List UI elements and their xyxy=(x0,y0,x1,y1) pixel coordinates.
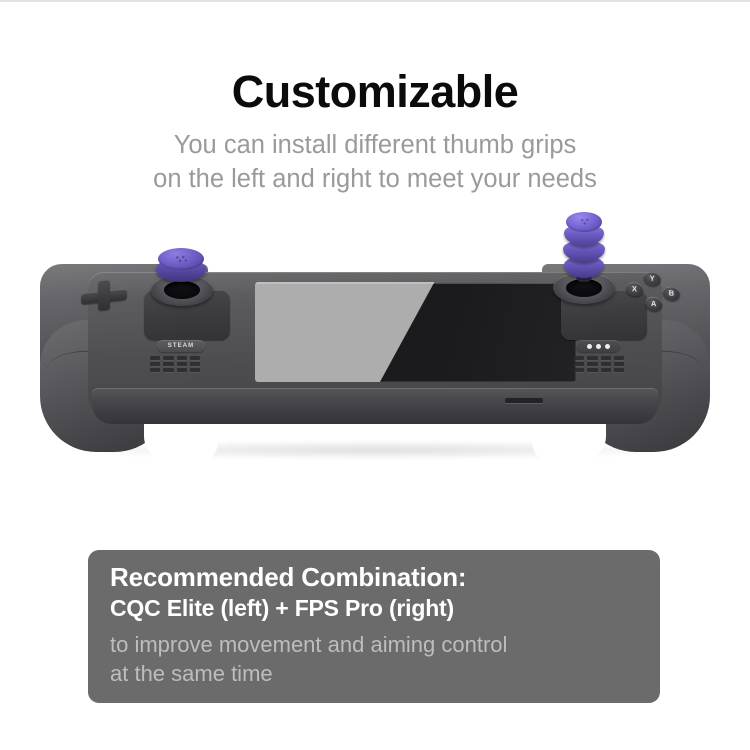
callout-title: Recommended Combination: xyxy=(110,562,660,593)
button-a-label: A xyxy=(651,300,657,308)
button-a[interactable]: A xyxy=(645,296,662,312)
recommendation-callout: Recommended Combination: CQC Elite (left… xyxy=(88,550,660,703)
subtitle-line-1: You can install different thumb grips xyxy=(0,129,750,163)
button-b[interactable]: B xyxy=(663,286,680,302)
subtitle-line-2: on the left and right to meet your needs xyxy=(0,163,750,197)
dpad-vertical-arm xyxy=(98,279,110,310)
steam-button[interactable]: STEAM xyxy=(157,340,205,352)
console-bottom-edge xyxy=(92,388,658,424)
callout-note-line-2: at the same time xyxy=(110,660,660,689)
product-infographic-page: Customizable You can install different t… xyxy=(0,0,750,750)
screen-top-highlight xyxy=(255,282,576,284)
top-divider xyxy=(0,0,750,2)
page-title: Customizable xyxy=(0,68,750,115)
header-block: Customizable You can install different t… xyxy=(0,68,750,197)
callout-note: to improve movement and aiming control a… xyxy=(110,631,660,688)
screen-surface-sheen xyxy=(255,282,576,382)
quick-access-menu-button[interactable] xyxy=(576,340,620,352)
dpad[interactable] xyxy=(81,276,127,315)
steam-button-label: STEAM xyxy=(168,343,195,349)
left-speaker-grille xyxy=(150,356,200,372)
button-b-label: B xyxy=(669,290,675,298)
face-button-cluster[interactable]: Y X B A xyxy=(622,269,685,319)
left-thumb-grip-cqc-elite[interactable] xyxy=(156,248,206,284)
right-thumb-grip-fps-pro[interactable] xyxy=(559,212,609,284)
microsd-card-slot xyxy=(505,398,543,403)
cqc-elite-grip-texture xyxy=(172,254,190,264)
button-y[interactable]: Y xyxy=(644,271,661,287)
fps-pro-grip-texture xyxy=(578,217,592,226)
callout-combination: CQC Elite (left) + FPS Pro (right) xyxy=(110,595,660,623)
qam-dot-3 xyxy=(605,344,610,349)
page-subtitle: You can install different thumb grips on… xyxy=(0,129,750,196)
right-speaker-grille xyxy=(574,356,624,372)
product-image: Y X B A STEAM xyxy=(0,228,750,508)
qam-dot-2 xyxy=(596,344,601,349)
console-screen xyxy=(255,282,576,382)
callout-note-line-1: to improve movement and aiming control xyxy=(110,631,660,660)
button-x[interactable]: X xyxy=(626,282,643,298)
qam-dot-1 xyxy=(587,344,592,349)
button-y-label: Y xyxy=(650,275,655,283)
steam-deck-device: Y X B A STEAM xyxy=(40,228,710,478)
button-x-label: X xyxy=(632,285,637,293)
